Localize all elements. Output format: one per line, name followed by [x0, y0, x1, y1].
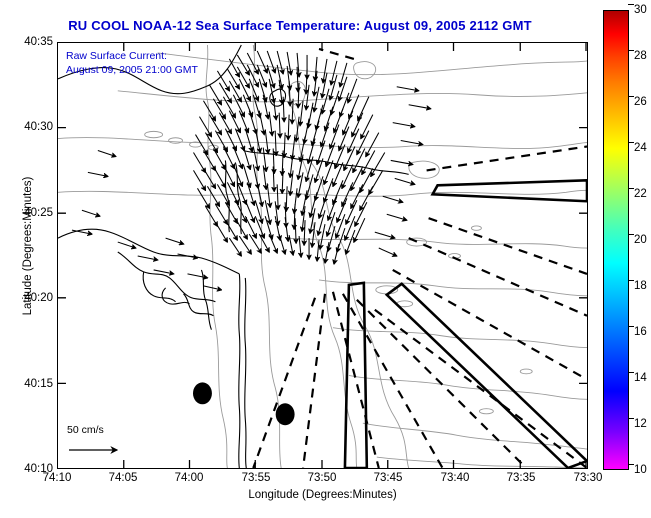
- colorbar-tick-label: 14: [634, 372, 647, 384]
- temperature-colorbar[interactable]: [603, 10, 629, 470]
- ytick-label: 40:10: [24, 463, 53, 475]
- colorbar-tick-label: 10: [634, 464, 647, 476]
- map-graphics: [58, 43, 587, 468]
- station-markers: [193, 382, 295, 425]
- xtick-label: 73:45: [374, 472, 403, 484]
- colorbar-tick-label: 20: [634, 234, 647, 246]
- colorbar-tick-label: 24: [634, 142, 647, 154]
- x-axis-label: Longitude (Degrees:Minutes): [57, 489, 588, 501]
- xtick-label: 73:35: [507, 472, 536, 484]
- figure-title: RU COOL NOAA-12 Sea Surface Temperature:…: [0, 18, 600, 33]
- coastline: [58, 45, 409, 468]
- vector-scale-legend: 50 cm/s: [63, 424, 181, 460]
- arrow-right-icon: [63, 424, 181, 460]
- xtick-label: 73:50: [308, 472, 337, 484]
- figure-canvas: RU COOL NOAA-12 Sea Surface Temperature:…: [0, 0, 651, 518]
- colorbar-tick-label: 12: [634, 418, 647, 430]
- colorbar-tick-label: 30: [634, 4, 647, 16]
- xtick-label: 73:30: [574, 472, 603, 484]
- map-plot-area[interactable]: Raw Surface Current: August 09, 2005 21:…: [57, 42, 588, 469]
- colorbar-tick-label: 22: [634, 188, 647, 200]
- colorbar-tick-label: 16: [634, 326, 647, 338]
- xtick-label: 74:00: [175, 472, 204, 484]
- colorbar-tick-label: 18: [634, 280, 647, 292]
- xtick-label: 73:40: [441, 472, 470, 484]
- ytick-label: 40:15: [24, 378, 53, 390]
- xtick-label: 74:05: [109, 472, 138, 484]
- station-marker: [276, 403, 295, 425]
- radar-beam-dashed-rays: [253, 49, 587, 468]
- xtick-label: 73:55: [242, 472, 271, 484]
- colorbar-tick-label: 26: [634, 96, 647, 108]
- colorbar-tick-label: 28: [634, 50, 647, 62]
- ytick-label: 40:35: [24, 36, 53, 48]
- bathymetry-contours: [58, 45, 587, 468]
- station-marker: [193, 382, 212, 404]
- y-axis-label: Latitude (Degrees:Minutes): [22, 126, 34, 366]
